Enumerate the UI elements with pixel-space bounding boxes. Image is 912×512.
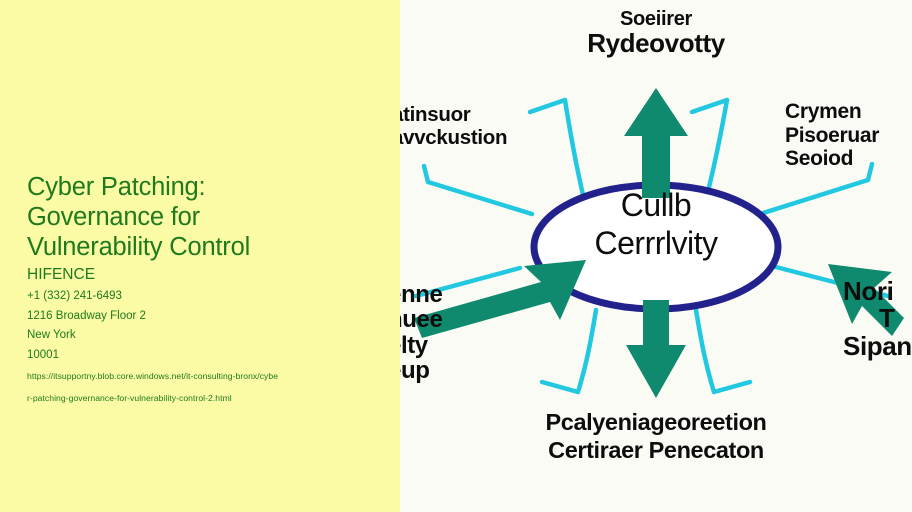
arrow-up bbox=[624, 88, 688, 198]
contact-info-block: Cyber Patching: Governance for Vulnerabi… bbox=[27, 172, 377, 409]
label-right-bottom-line-3: Sipan bbox=[843, 333, 912, 360]
label-left-bottom-line-2: nuee bbox=[400, 307, 442, 332]
label-left-top: atinsuor avvckustion bbox=[400, 104, 582, 150]
company-name: HIFENCE bbox=[27, 265, 377, 285]
label-bottom-line-2: Certiraer Penecaton bbox=[400, 436, 912, 464]
label-left-bottom-line-4: eup bbox=[400, 358, 442, 383]
label-right-bottom: Nori T Sipan bbox=[843, 278, 912, 360]
radial-diagram-panel: Soeiirer Rydeovotty atinsuor avvckustion… bbox=[400, 0, 912, 512]
center-node-label: Cullb Cerrrlvity bbox=[516, 186, 796, 262]
slide-canvas: Cyber Patching: Governance for Vulnerabi… bbox=[0, 0, 912, 512]
source-url-line-1: https://itsupportny.blob.core.windows.ne… bbox=[27, 365, 377, 387]
left-info-panel: Cyber Patching: Governance for Vulnerabi… bbox=[0, 0, 400, 512]
ray-lower-left-inner-hook bbox=[542, 382, 578, 392]
center-label-line-2: Cerrrlvity bbox=[516, 224, 796, 262]
ray-lower-right-inner-hook bbox=[714, 382, 750, 392]
label-right-bottom-line-2: T bbox=[843, 305, 912, 332]
address-street: 1216 Broadway Floor 2 bbox=[27, 307, 377, 327]
label-bottom: Pcalyeniageoreetion Certiraer Penecaton bbox=[400, 408, 912, 464]
label-right-top-line-1: Crymen bbox=[785, 100, 879, 124]
label-left-bottom: enne nuee elty eup bbox=[400, 282, 442, 384]
label-left-top-line-1: atinsuor bbox=[400, 104, 582, 127]
ray-lower-left-inner bbox=[578, 310, 596, 392]
ray-left-diagonal-hook bbox=[424, 166, 428, 182]
ray-upper-right-inner-hook bbox=[692, 100, 727, 112]
label-top-line-2: Rydeovotty bbox=[400, 29, 912, 58]
address-city: New York bbox=[27, 326, 377, 346]
address-zip: 10001 bbox=[27, 346, 377, 366]
label-top: Soeiirer Rydeovotty bbox=[400, 8, 912, 59]
arrow-down bbox=[626, 300, 686, 398]
label-top-line-1: Soeiirer bbox=[400, 8, 912, 30]
label-left-bottom-line-3: elty bbox=[400, 333, 442, 358]
page-title: Cyber Patching: Governance for Vulnerabi… bbox=[27, 172, 377, 262]
center-label-line-1: Cullb bbox=[516, 186, 796, 224]
phone-number: +1 (332) 241-6493 bbox=[27, 287, 377, 307]
label-right-bottom-line-1: Nori bbox=[843, 278, 912, 305]
label-right-top-line-2: Pisoeruar bbox=[785, 124, 879, 148]
label-left-top-line-2: avvckustion bbox=[400, 127, 582, 150]
label-right-top-line-3: Seoiod bbox=[785, 147, 879, 171]
ray-lower-right-inner bbox=[696, 310, 714, 392]
label-bottom-line-1: Pcalyeniageoreetion bbox=[400, 408, 912, 436]
label-right-top: Crymen Pisoeruar Seoiod bbox=[785, 100, 879, 171]
source-url-line-2: r-patching-governance-for-vulnerability-… bbox=[27, 387, 377, 409]
label-left-bottom-line-1: enne bbox=[400, 282, 442, 307]
